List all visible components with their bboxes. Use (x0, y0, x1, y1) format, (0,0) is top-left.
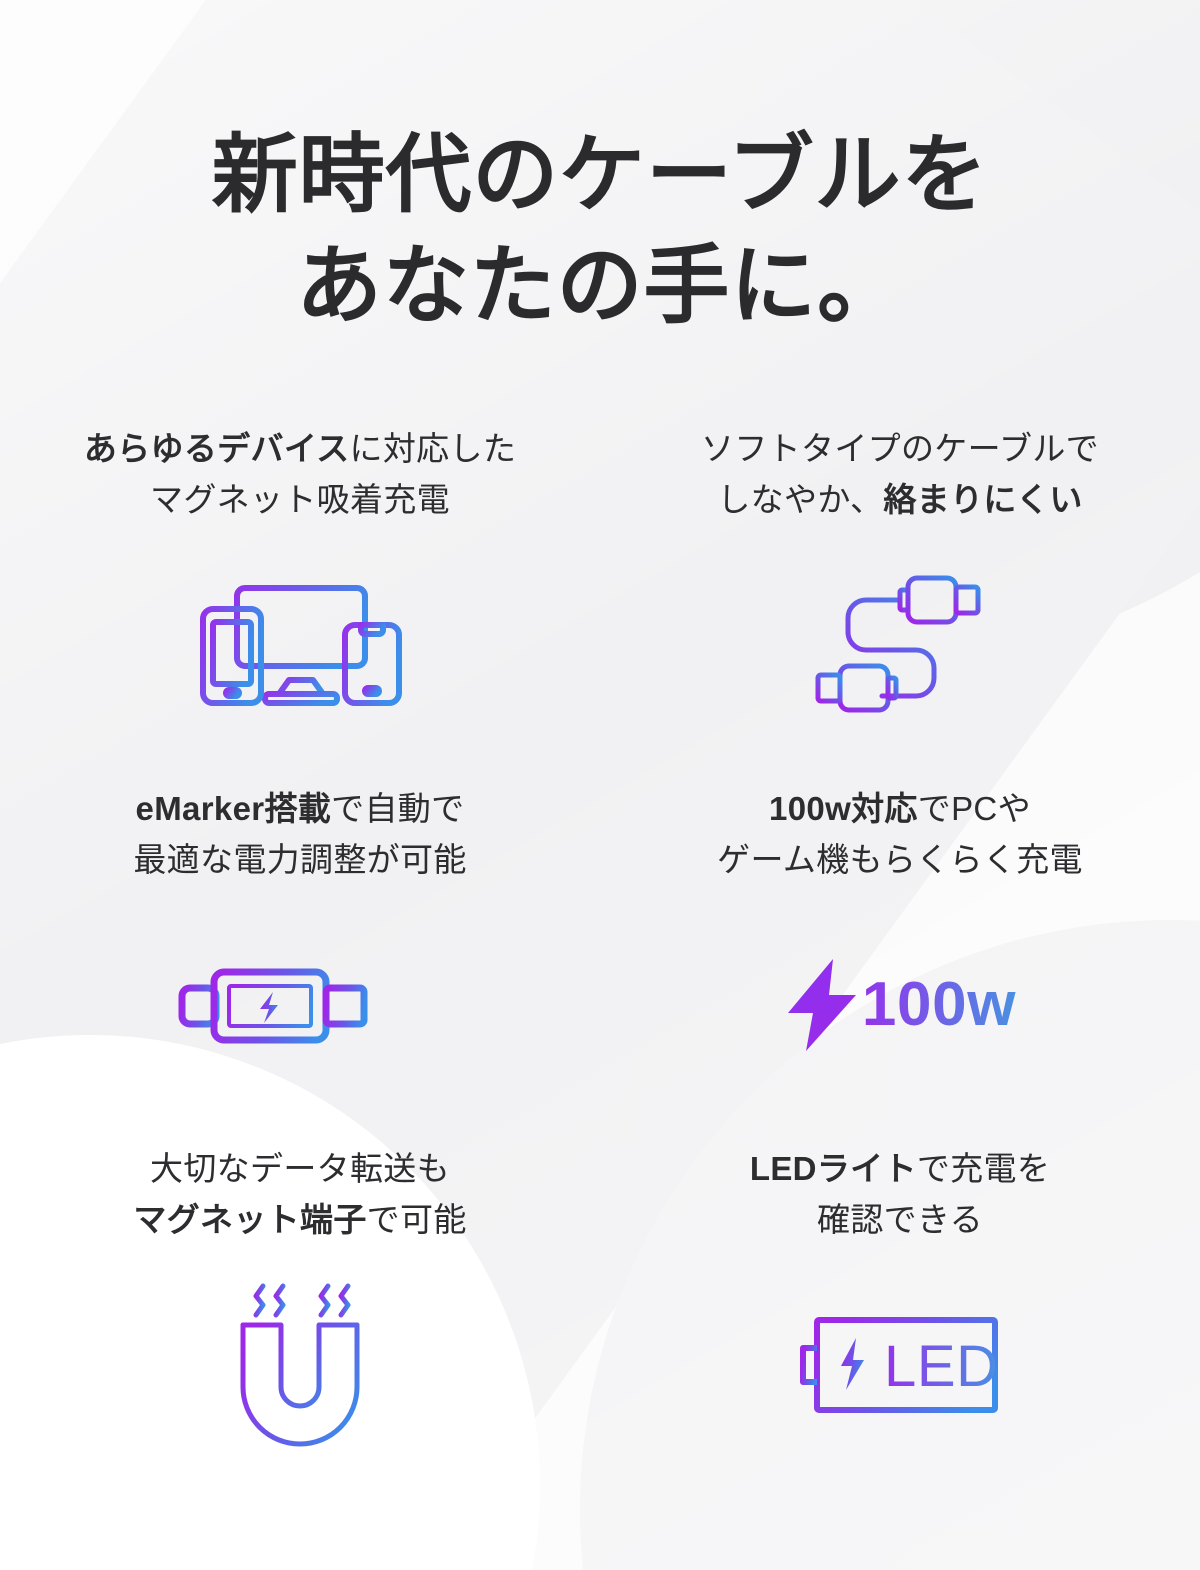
caption-text: 最適な電力調整が可能 (133, 834, 466, 885)
caption-text: で充電を (917, 1150, 1050, 1187)
wattage-label: 100w (862, 974, 1016, 1036)
caption-emphasis: 絡まりにくい (883, 481, 1082, 518)
feature-caption: あらゆるデバイスに対応した マグネット吸着充電 (84, 423, 516, 525)
feature-card-data-transfer: 大切なデータ転送も マグネット端子で可能 (0, 1125, 600, 1485)
caption-text: で可能 (367, 1201, 467, 1238)
feature-caption: LEDライトで充電を 確認できる (750, 1143, 1050, 1245)
caption-text: マグネット吸着充電 (84, 474, 516, 525)
wattage-badge: 100w (784, 957, 1016, 1053)
caption-text: ソフトタイプのケーブルで (701, 423, 1099, 474)
feature-grid: あらゆるデバイスに対応した マグネット吸着充電 (0, 405, 1200, 1485)
feature-card-soft-cable: ソフトタイプのケーブルで しなやか、絡まりにくい (600, 405, 1200, 765)
magnet-icon (225, 1279, 375, 1451)
feature-icon-slot (600, 525, 1200, 765)
caption-text: でPCや (918, 790, 1031, 827)
feature-icon-slot: LED (600, 1245, 1200, 1485)
caption-text: 確認できる (750, 1194, 1050, 1245)
feature-icon-slot: 100w (600, 885, 1200, 1125)
page-title: 新時代のケーブルを あなたの手に。 (0, 58, 1200, 344)
usb-c-cable-icon (808, 575, 993, 715)
caption-emphasis: eMarker搭載 (136, 790, 332, 827)
caption-emphasis: あらゆるデバイス (84, 430, 350, 467)
feature-card-led: LEDライトで充電を 確認できる (600, 1125, 1200, 1485)
connector-bolt-icon (178, 964, 422, 1046)
devices-icon (193, 578, 408, 713)
feature-icon-slot (0, 1245, 600, 1485)
caption-text: に対応した (350, 430, 517, 467)
feature-icon-slot (0, 525, 600, 765)
feature-caption: 100w対応でPCや ゲーム機もらくらく充電 (717, 783, 1083, 885)
caption-text: しなやか、 (717, 481, 883, 518)
led-battery-badge: LED (800, 1310, 1000, 1420)
feature-card-100w: 100w対応でPCや ゲーム機もらくらく充電 (600, 765, 1200, 1125)
caption-text: ゲーム機もらくらく充電 (717, 834, 1083, 885)
feature-card-multi-device: あらゆるデバイスに対応した マグネット吸着充電 (0, 405, 600, 765)
feature-caption: 大切なデータ転送も マグネット端子で可能 (133, 1143, 466, 1245)
feature-card-emarker: eMarker搭載で自動で 最適な電力調整が可能 (0, 765, 600, 1125)
product-feature-infographic: 新時代のケーブルを あなたの手に。 あらゆるデバイスに対応した マグネット吸着充… (0, 0, 1200, 1570)
led-label: LED (884, 1338, 999, 1396)
lightning-bolt-icon (784, 957, 862, 1053)
feature-caption: eMarker搭載で自動で 最適な電力調整が可能 (133, 783, 466, 885)
feature-caption: ソフトタイプのケーブルで しなやか、絡まりにくい (701, 423, 1099, 525)
caption-emphasis: LEDライト (750, 1150, 917, 1187)
caption-emphasis: 100w対応 (769, 790, 918, 827)
page-title-line-1: 新時代のケーブルを (0, 120, 1200, 232)
caption-text: 大切なデータ転送も (133, 1143, 466, 1194)
caption-emphasis: マグネット端子 (133, 1201, 366, 1238)
page-title-line-2: あなたの手に。 (0, 231, 1200, 343)
feature-icon-slot (0, 885, 600, 1125)
caption-text: で自動で (331, 790, 464, 827)
